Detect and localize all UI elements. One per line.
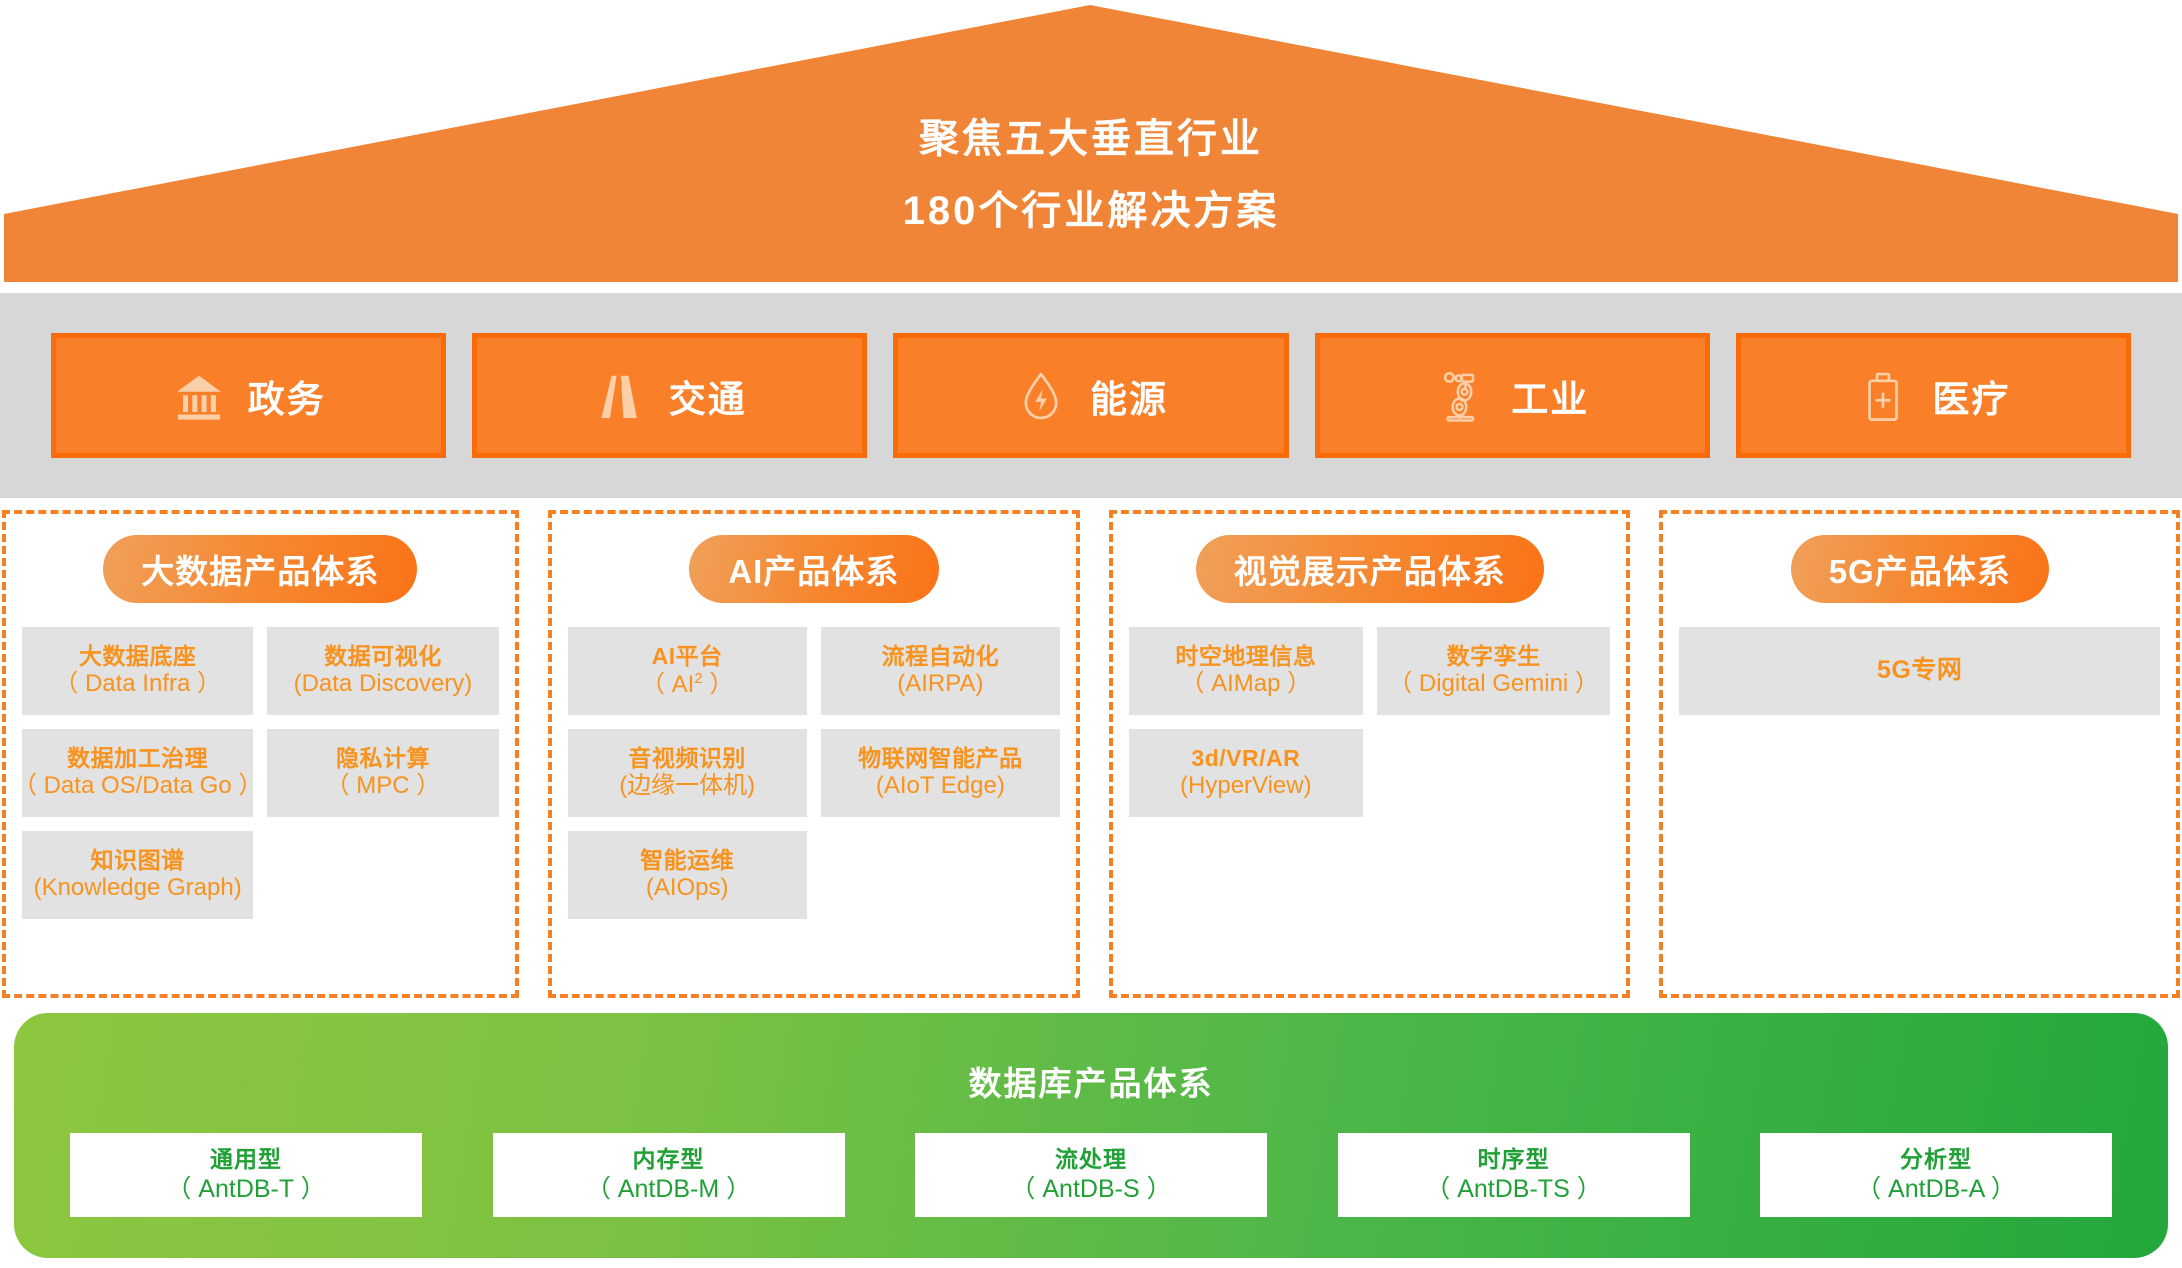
industry-label: 工业 <box>1511 369 1589 423</box>
industry-card-transport[interactable]: 交通 <box>472 333 867 458</box>
industry-card-energy[interactable]: 能源 <box>893 333 1288 458</box>
database-card-cn: 内存型 <box>633 1146 705 1174</box>
database-card[interactable]: 流处理 （ AntDB-S ） <box>915 1133 1267 1217</box>
database-card-cn: 分析型 <box>1900 1146 1972 1174</box>
product-card[interactable]: 流程自动化 (AIRPA) <box>821 627 1060 715</box>
panel-card-grid: 5G专网 <box>1679 627 2160 715</box>
product-card[interactable]: 数字孪生 （ Digital Gemini ） <box>1377 627 1611 715</box>
product-card[interactable]: 物联网智能产品 (AIoT Edge) <box>821 729 1060 817</box>
panel-title: AI产品体系 <box>728 545 899 593</box>
product-card[interactable]: 隐私计算 （ MPC ） <box>267 729 498 817</box>
panel-5g: 5G产品体系 5G专网 <box>1659 510 2180 998</box>
product-card-en: （ AI2 ） <box>641 670 733 699</box>
bank-icon <box>172 369 226 423</box>
product-card-en: (Knowledge Graph) <box>34 874 242 902</box>
industry-card-industrial[interactable]: 工业 <box>1315 333 1710 458</box>
industry-card-healthcare[interactable]: 医疗 <box>1736 333 2131 458</box>
roof-banner: 聚焦五大垂直行业 180个行业解决方案 <box>0 0 2182 293</box>
product-card-en: (AIRPA) <box>897 670 983 698</box>
panel-title: 5G产品体系 <box>1829 545 2011 593</box>
database-card-cn: 时序型 <box>1478 1146 1550 1174</box>
database-card-en: （ AntDB-T ） <box>166 1174 325 1204</box>
product-card-cn: 音视频识别 <box>628 745 746 772</box>
roof-shape <box>0 0 2182 293</box>
product-card-cn: 隐私计算 <box>336 745 430 772</box>
robot-arm-icon <box>1435 369 1489 423</box>
product-card[interactable]: 3d/VR/AR (HyperView) <box>1129 729 1363 817</box>
database-card[interactable]: 分析型 （ AntDB-A ） <box>1760 1133 2112 1217</box>
panel-title-pill: 5G产品体系 <box>1791 535 2049 603</box>
product-card-en: (HyperView) <box>1180 772 1312 800</box>
panel-card-grid: 时空地理信息 （ AIMap ） 数字孪生 （ Digital Gemini ）… <box>1129 627 1611 817</box>
medical-kit-icon <box>1856 369 1910 423</box>
product-card-en: (AIoT Edge) <box>876 772 1005 800</box>
product-card-cn: 时空地理信息 <box>1175 643 1316 670</box>
database-card[interactable]: 内存型 （ AntDB-M ） <box>493 1133 845 1217</box>
product-card[interactable]: 音视频识别 (边缘一体机) <box>568 729 807 817</box>
panel-card-grid: AI平台 （ AI2 ） 流程自动化 (AIRPA) 音视频识别 (边缘一体机)… <box>568 627 1060 919</box>
product-card[interactable]: 时空地理信息 （ AIMap ） <box>1129 627 1363 715</box>
database-card-en: （ AntDB-S ） <box>1010 1174 1171 1204</box>
industry-label: 能源 <box>1090 369 1168 423</box>
industry-band: 政务 交通 能源 <box>0 293 2182 498</box>
industry-label: 交通 <box>669 369 747 423</box>
product-card-en: （ MPC ） <box>326 772 441 800</box>
database-card-en: （ AntDB-TS ） <box>1425 1174 1601 1204</box>
product-panels: 大数据产品体系 大数据底座 （ Data Infra ） 数据可视化 (Data… <box>0 510 2182 998</box>
database-product-bar: 数据库产品体系 通用型 （ AntDB-T ） 内存型 （ AntDB-M ） … <box>14 1013 2168 1258</box>
product-card-cn: 知识图谱 <box>91 847 185 874</box>
panel-ai: AI产品体系 AI平台 （ AI2 ） 流程自动化 (AIRPA) 音视频识别 … <box>548 510 1080 998</box>
product-card[interactable]: 5G专网 <box>1679 627 2160 715</box>
product-card-cn: 流程自动化 <box>882 643 1000 670</box>
panel-bigdata: 大数据产品体系 大数据底座 （ Data Infra ） 数据可视化 (Data… <box>2 510 519 998</box>
database-card-cn: 流处理 <box>1055 1146 1127 1174</box>
product-card-cn: 5G专网 <box>1877 656 1962 686</box>
product-card-en: （ Data OS/Data Go ） <box>13 772 262 800</box>
panel-title-pill: 大数据产品体系 <box>103 535 417 603</box>
panel-card-grid: 大数据底座 （ Data Infra ） 数据可视化 (Data Discove… <box>22 627 499 919</box>
industry-card-government[interactable]: 政务 <box>51 333 446 458</box>
product-card[interactable]: AI平台 （ AI2 ） <box>568 627 807 715</box>
panel-visual: 视觉展示产品体系 时空地理信息 （ AIMap ） 数字孪生 （ Digital… <box>1109 510 1631 998</box>
product-card-cn: 大数据底座 <box>79 643 197 670</box>
product-card-cn: 3d/VR/AR <box>1191 745 1300 772</box>
database-card-en: （ AntDB-A ） <box>1856 1174 2016 1204</box>
road-icon <box>593 369 647 423</box>
product-card[interactable]: 智能运维 (AIOps) <box>568 831 807 919</box>
database-card-row: 通用型 （ AntDB-T ） 内存型 （ AntDB-M ） 流处理 （ An… <box>14 1133 2168 1217</box>
database-card[interactable]: 通用型 （ AntDB-T ） <box>70 1133 422 1217</box>
product-card-cn: 数据可视化 <box>324 643 442 670</box>
energy-drop-icon <box>1014 369 1068 423</box>
product-card-en: (AIOps) <box>646 874 729 902</box>
product-card[interactable]: 知识图谱 (Knowledge Graph) <box>22 831 253 919</box>
panel-title: 视觉展示产品体系 <box>1234 545 1506 593</box>
panel-title: 大数据产品体系 <box>141 545 379 593</box>
database-card-en: （ AntDB-M ） <box>586 1174 751 1204</box>
database-card-cn: 通用型 <box>210 1146 282 1174</box>
product-card-en: （ Data Infra ） <box>54 670 221 698</box>
product-card-en: （ Digital Gemini ） <box>1388 670 1599 698</box>
industry-label: 医疗 <box>1932 369 2010 423</box>
product-card-cn: 数据加工治理 <box>67 745 208 772</box>
product-card-en: (边缘一体机) <box>619 772 755 800</box>
product-card-cn: AI平台 <box>652 643 723 670</box>
product-card-cn: 智能运维 <box>640 847 734 874</box>
database-card[interactable]: 时序型 （ AntDB-TS ） <box>1338 1133 1690 1217</box>
industry-label: 政务 <box>248 369 326 423</box>
product-card[interactable]: 数据加工治理 （ Data OS/Data Go ） <box>22 729 253 817</box>
product-card-en: （ AIMap ） <box>1180 670 1311 698</box>
product-card[interactable]: 数据可视化 (Data Discovery) <box>267 627 498 715</box>
product-card-cn: 数字孪生 <box>1447 643 1541 670</box>
database-bar-title: 数据库产品体系 <box>969 1057 1214 1105</box>
product-card-en: (Data Discovery) <box>294 670 473 698</box>
product-card[interactable]: 大数据底座 （ Data Infra ） <box>22 627 253 715</box>
panel-title-pill: 视觉展示产品体系 <box>1196 535 1544 603</box>
panel-title-pill: AI产品体系 <box>689 535 939 603</box>
product-card-cn: 物联网智能产品 <box>858 745 1023 772</box>
